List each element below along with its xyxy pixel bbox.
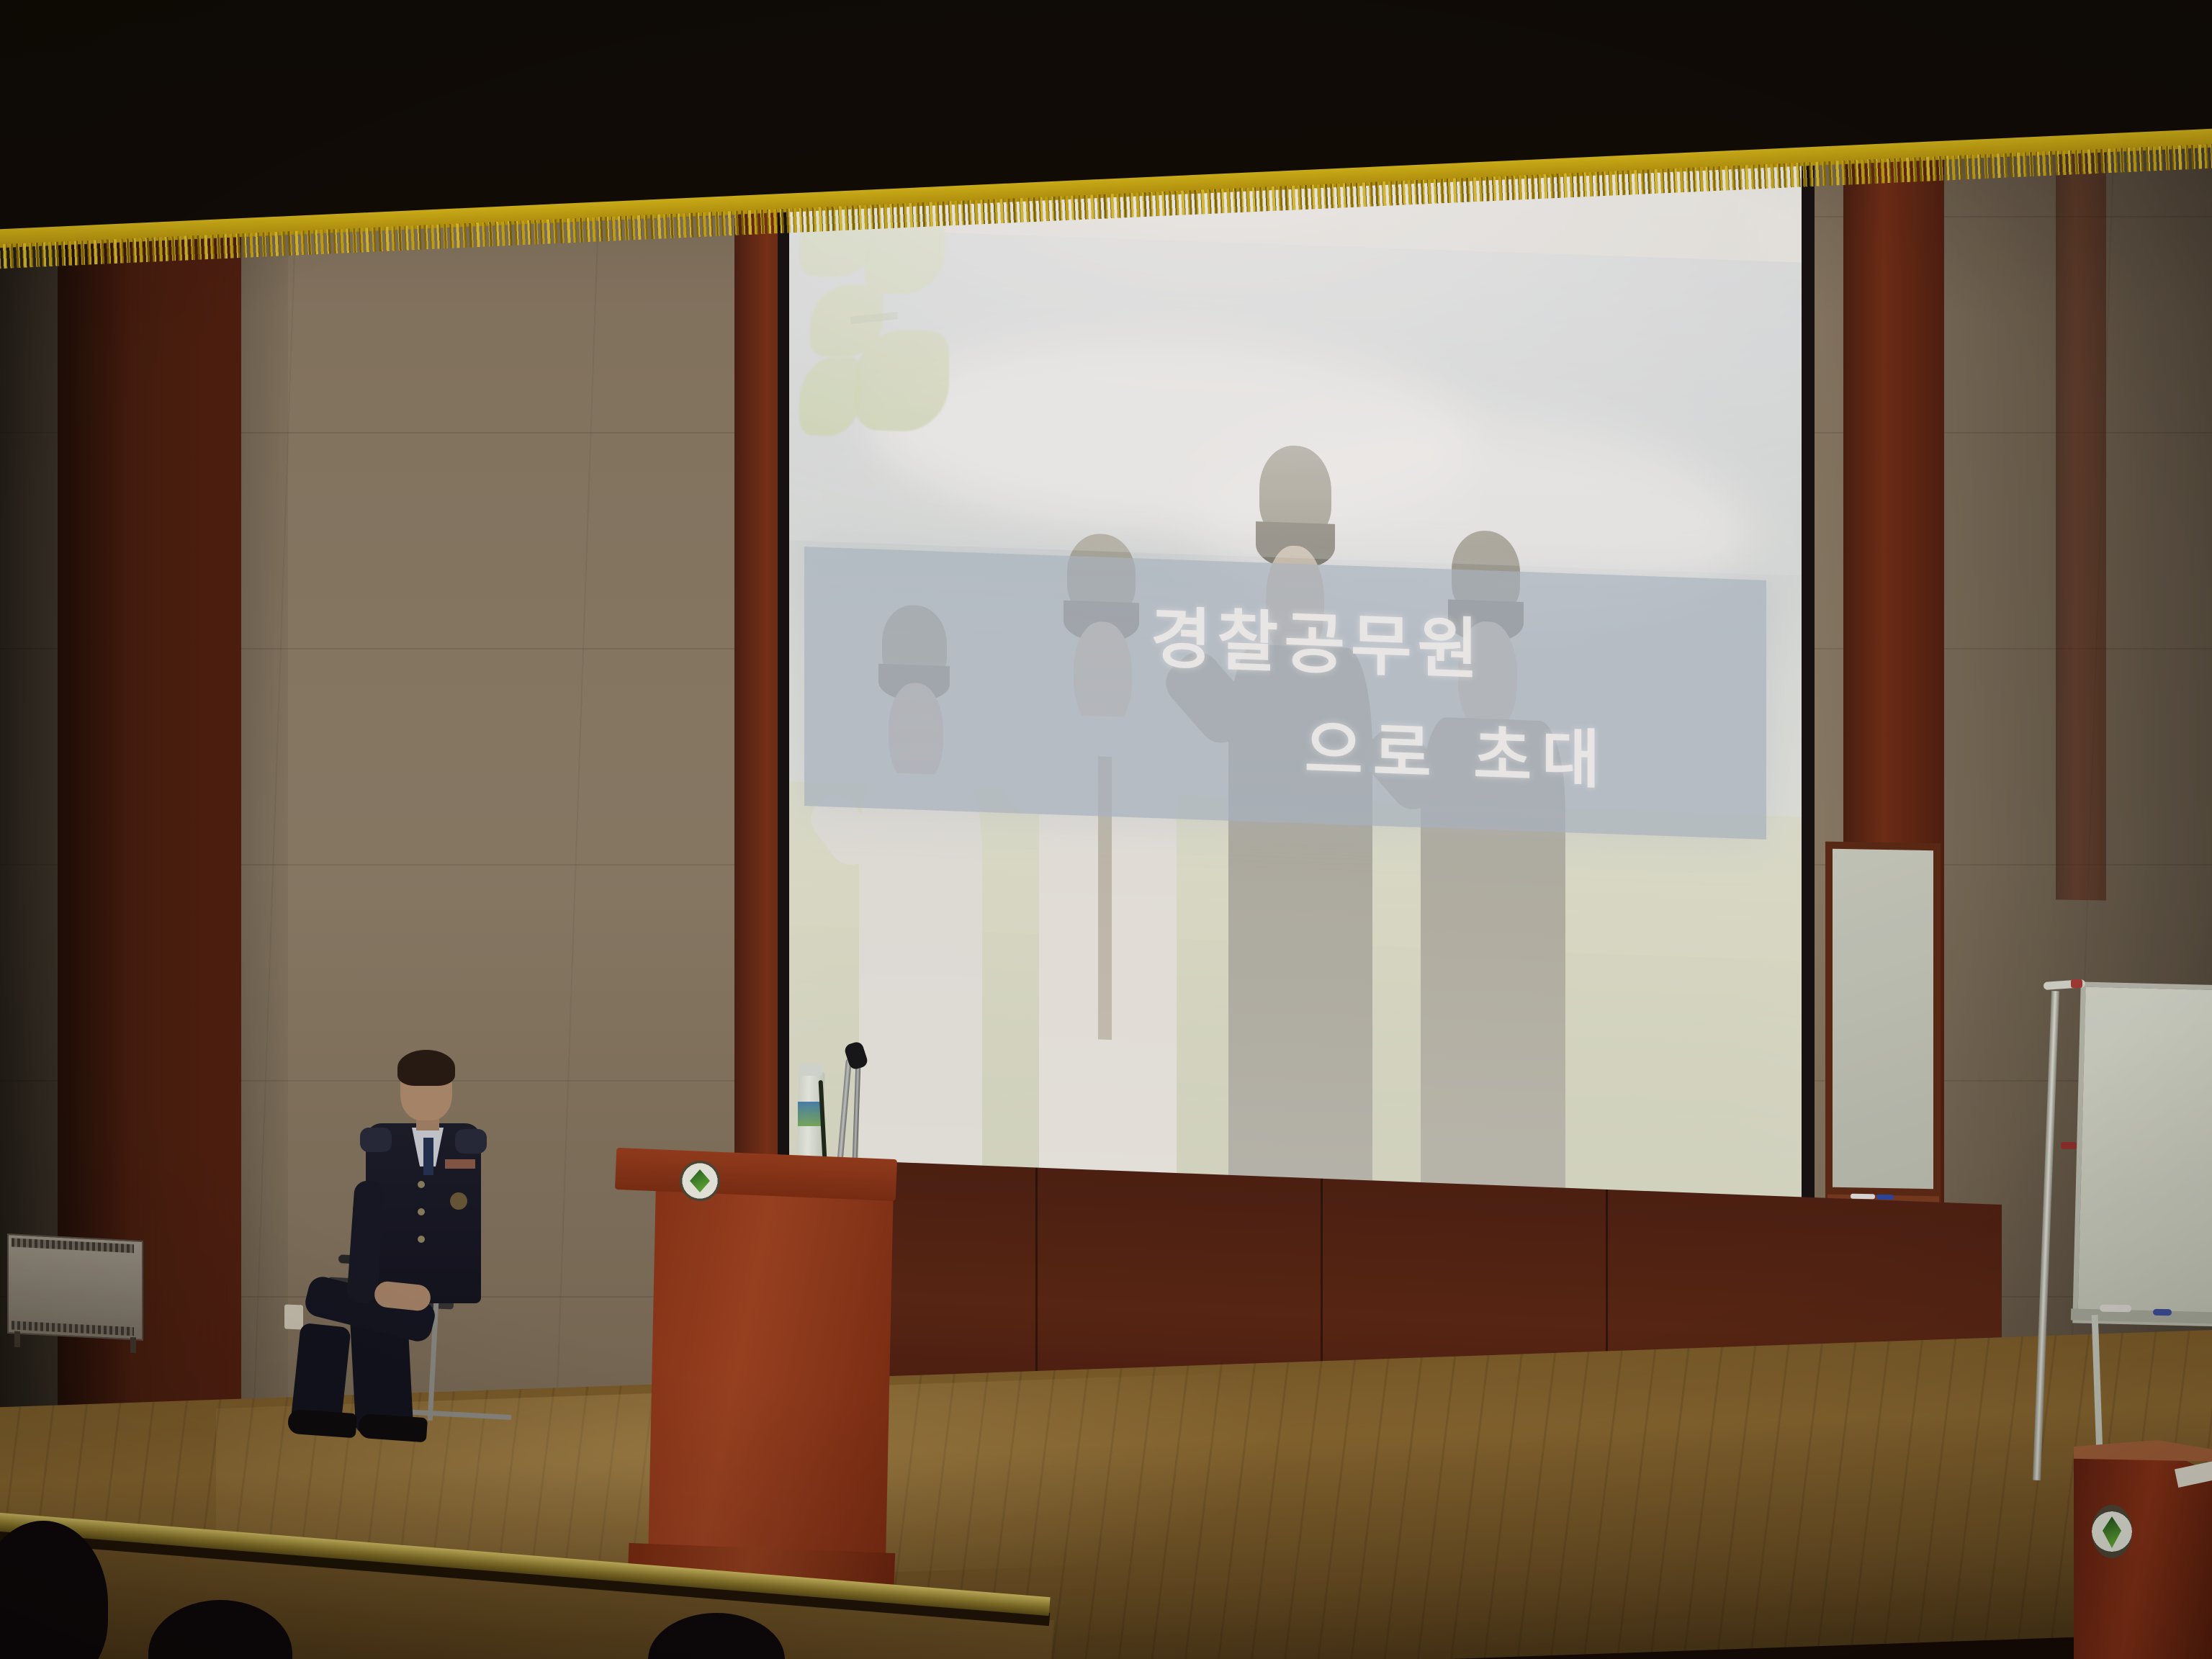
whiteboard-marker-icon[interactable] [2100,1305,2131,1313]
easel-clip-icon[interactable] [2071,979,2082,988]
officer-necktie [423,1138,433,1175]
officer-shoulder-board [455,1129,487,1154]
auditorium-scene: 경찰공무원 으로 초대 [0,0,2212,1659]
whiteboard-marker-icon[interactable] [2153,1309,2172,1316]
easel-whiteboard[interactable] [2072,981,2212,1326]
officer-shoe [358,1413,428,1443]
bottle-cap [799,1064,822,1076]
officer-shoulder-board [360,1128,392,1152]
officer-hair [397,1050,455,1086]
easel-clip-icon[interactable] [2061,1142,2077,1149]
officer-ribbon-bar [445,1159,475,1169]
officer-shoe [287,1409,357,1439]
speaker-podium-body [647,1184,894,1593]
officer-badge [450,1192,467,1210]
